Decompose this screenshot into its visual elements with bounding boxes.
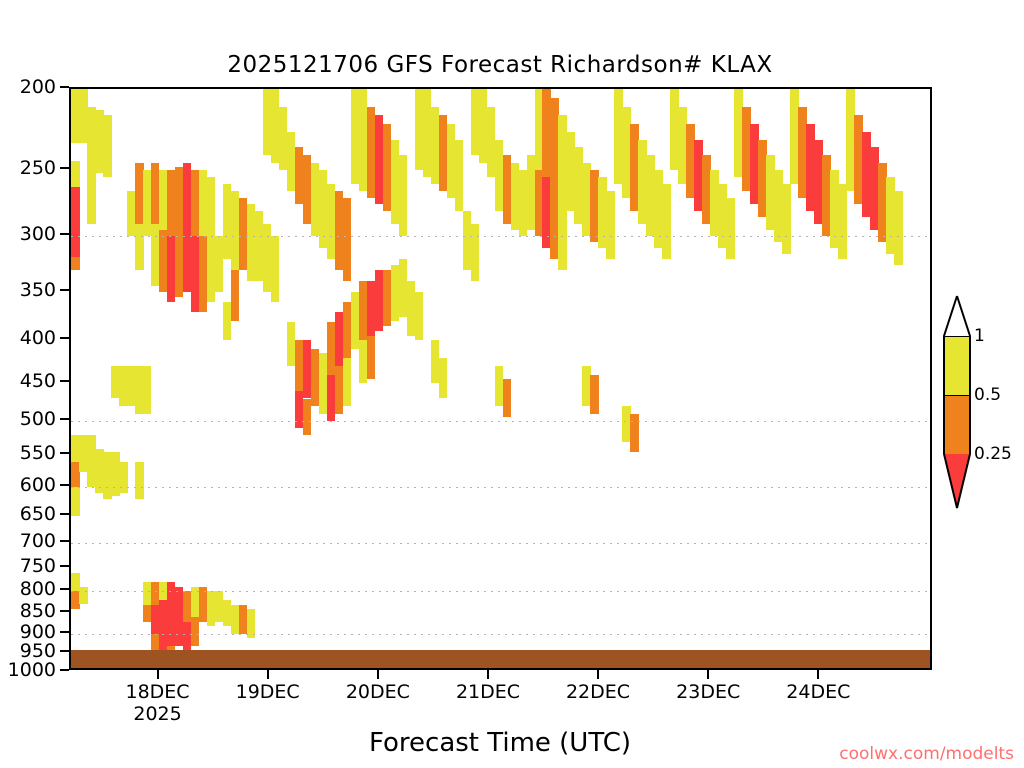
watermark: coolwx.com/modelts <box>839 744 1014 764</box>
x-tick-mark <box>817 670 819 679</box>
x-tick-label: 24DEC <box>786 681 850 703</box>
x-axis: 18DEC202519DEC20DEC21DEC22DEC23DEC24DEC <box>0 0 1024 768</box>
x-tick-label: 22DEC <box>566 681 630 703</box>
colorbar-outline-svg <box>944 296 970 508</box>
x-tick-label: 21DEC <box>456 681 520 703</box>
x-tick-label: 23DEC <box>676 681 740 703</box>
colorbar: 10.50.25 <box>944 296 970 508</box>
x-tick-mark <box>487 670 489 679</box>
x-tick-label: 18DEC <box>125 681 189 703</box>
colorbar-label: 1 <box>974 326 985 346</box>
x-tick-label: 19DEC <box>236 681 300 703</box>
x-tick-mark <box>707 670 709 679</box>
x-tick-mark <box>157 670 159 679</box>
colorbar-label: 0.25 <box>974 444 1012 464</box>
x-tick-label: 20DEC <box>346 681 410 703</box>
x-tick-mark <box>597 670 599 679</box>
x-tick-sublabel: 2025 <box>133 703 181 725</box>
x-tick-mark <box>267 670 269 679</box>
x-tick-mark <box>377 670 379 679</box>
colorbar-label: 0.5 <box>974 385 1001 405</box>
